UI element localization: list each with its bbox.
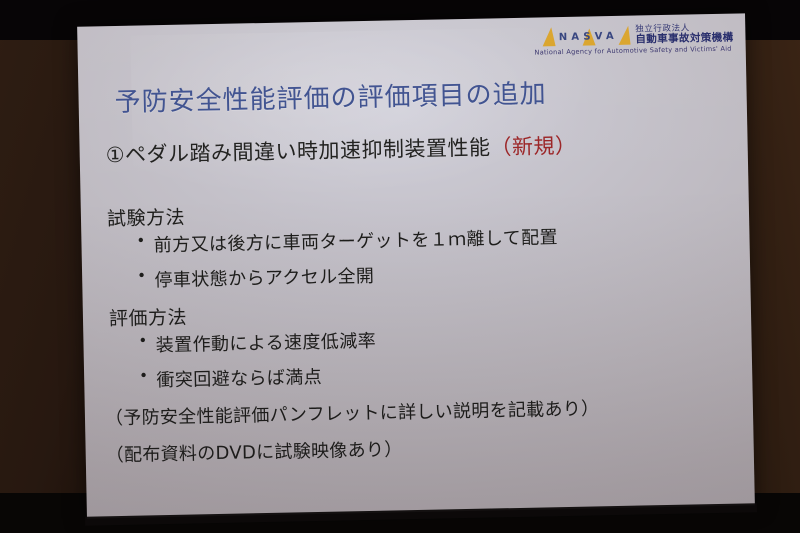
list-item: • 停車状態からアクセル全開 xyxy=(137,258,559,292)
slide-content: NASVA 独立行政法人 自動車事故対策機構 National Agency f… xyxy=(77,13,755,518)
list-item-label: 装置作動による速度低減率 xyxy=(156,327,377,357)
list-item-label: 停車状態からアクセル全開 xyxy=(154,262,374,292)
slide-item-1: ①ペダル踏み間違い時加速抑制装置性能（新規） xyxy=(105,130,576,169)
bullet-list-test-method: • 前方又は後方に車両ターゲットを１ｍ離して配置 • 停車状態からアクセル全開 xyxy=(136,223,559,301)
list-item: • 前方又は後方に車両ターゲットを１ｍ離して配置 xyxy=(136,223,558,257)
list-item: • 衝突回避ならば満点 xyxy=(139,362,377,393)
nasva-logo-mark-icon: NASVA xyxy=(542,26,630,48)
slide-item-1-badge: （新規） xyxy=(490,134,576,160)
screenshot-stage: NASVA 独立行政法人 自動車事故対策機構 National Agency f… xyxy=(0,0,800,533)
bullet-list-evaluation-method: • 装置作動による速度低減率 • 衝突回避ならば満点 xyxy=(138,327,377,402)
projected-slide: NASVA 独立行政法人 自動車事故対策機構 National Agency f… xyxy=(77,13,755,518)
nasva-logo-letters: NASVA xyxy=(555,30,618,42)
bullet-dot-icon: • xyxy=(138,331,148,350)
bullet-dot-icon: • xyxy=(139,366,149,385)
nasva-logo-jp-line2: 自動車事故対策機構 xyxy=(635,33,733,46)
list-item-label: 前方又は後方に車両ターゲットを１ｍ離して配置 xyxy=(153,223,558,257)
slide-item-1-text: ①ペダル踏み間違い時加速抑制装置性能 xyxy=(105,135,490,167)
nasva-logo-text: 独立行政法人 自動車事故対策機構 xyxy=(635,24,733,46)
nasva-logo: NASVA 独立行政法人 自動車事故対策機構 xyxy=(542,24,733,48)
bullet-dot-icon: • xyxy=(137,266,147,285)
list-item-label: 衝突回避ならば満点 xyxy=(156,363,322,392)
slide-note-2: （配布資料のDVDに試験映像あり） xyxy=(105,431,600,467)
slide-title: 予防安全性能評価の評価項目の追加 xyxy=(114,73,547,119)
section-heading-test-method: 試験方法 xyxy=(107,203,186,232)
slide-notes: （予防安全性能評価パンフレットに詳しい説明を記載あり） （配布資料のDVDに試験… xyxy=(105,394,601,478)
bullet-dot-icon: • xyxy=(136,231,146,250)
projection-screen: NASVA 独立行政法人 自動車事故対策機構 National Agency f… xyxy=(77,13,755,518)
section-heading-evaluation-method: 評価方法 xyxy=(109,303,188,332)
list-item: • 装置作動による速度低減率 xyxy=(138,327,376,358)
